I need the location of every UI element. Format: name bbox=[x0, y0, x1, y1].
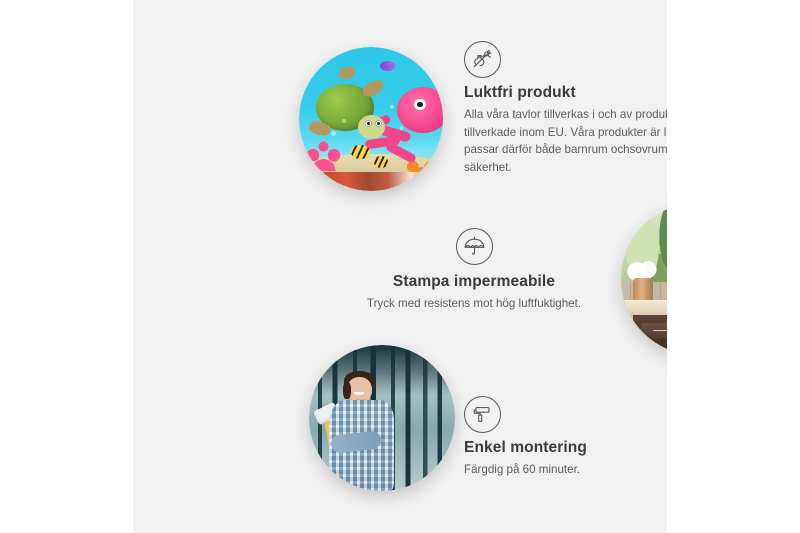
promo-canvas: Luktfri produkt Alla våra tavlor tillver… bbox=[0, 0, 800, 533]
photo-inner bbox=[309, 345, 455, 491]
feature-description: Tryck med resistens mot hög luftfuktighe… bbox=[338, 295, 610, 313]
yellow-fish bbox=[351, 145, 370, 159]
umbrella-icon bbox=[456, 228, 493, 265]
octopus-eye bbox=[414, 99, 426, 111]
feature-title: Enkel montering bbox=[464, 439, 667, 457]
forest-canopy bbox=[309, 345, 455, 395]
feature-description: Färgdig på 60 minuter. bbox=[464, 461, 667, 479]
photo-inner bbox=[621, 203, 667, 355]
pink-coral bbox=[306, 136, 341, 171]
feature-block-odorless: Luktfri produkt Alla våra tavlor tillver… bbox=[464, 41, 667, 176]
content-panel: Luktfri produkt Alla våra tavlor tillver… bbox=[133, 0, 667, 533]
underwater-cartoon-mural-thumbnail[interactable] bbox=[299, 47, 443, 191]
feature-block-easy-assembly: Enkel montering Färgdig på 60 minuter. bbox=[464, 396, 667, 479]
hair-side bbox=[343, 382, 350, 400]
icon-row bbox=[464, 41, 667, 78]
wood-vanity bbox=[633, 315, 667, 355]
foreground-strip bbox=[299, 172, 443, 191]
painter-woman-forest-mural-thumbnail[interactable] bbox=[309, 345, 455, 491]
bubble bbox=[342, 119, 346, 123]
no-odor-spray-bottle-icon bbox=[464, 41, 501, 78]
vanity-drawer bbox=[641, 323, 667, 338]
feature-title: Stampa impermeabile bbox=[338, 273, 610, 291]
photo-inner bbox=[299, 47, 443, 191]
yellow-fish bbox=[374, 156, 388, 168]
octopus-head bbox=[397, 87, 443, 133]
icon-row bbox=[338, 228, 610, 265]
icon-row bbox=[464, 396, 667, 433]
feature-description: Alla våra tavlor tillverkas i och av pro… bbox=[464, 106, 667, 176]
feature-block-waterproof: Stampa impermeabile Tryck med resistens … bbox=[338, 228, 610, 313]
feature-title: Luktfri produkt bbox=[464, 84, 667, 102]
bathroom-tropical-wallpaper-thumbnail[interactable] bbox=[621, 203, 667, 355]
bubble bbox=[400, 126, 403, 129]
paint-roller-icon bbox=[464, 396, 501, 433]
